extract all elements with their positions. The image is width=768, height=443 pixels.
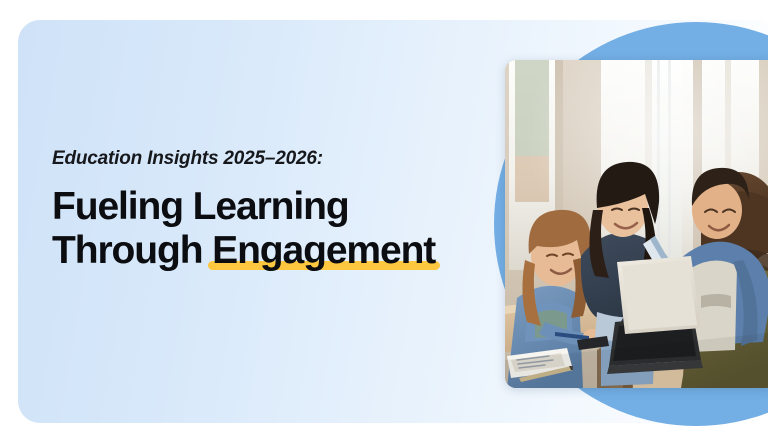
highlighted-word-engagement: Engagement xyxy=(212,229,435,273)
eyebrow-label: Education Insights 2025–2026: xyxy=(52,148,482,171)
page-title: Fueling Learning Through Engagement xyxy=(52,185,482,273)
classroom-photo xyxy=(505,60,768,388)
headline-line-2-prefix: Through xyxy=(52,229,212,272)
headline-line-2: Through Engagement xyxy=(52,229,482,273)
classroom-photo-illustration xyxy=(505,60,768,388)
headline-line-1: Fueling Learning xyxy=(52,185,482,229)
slide-canvas: Education Insights 2025–2026: Fueling Le… xyxy=(0,0,768,443)
headline-text-block: Education Insights 2025–2026: Fueling Le… xyxy=(52,148,482,273)
